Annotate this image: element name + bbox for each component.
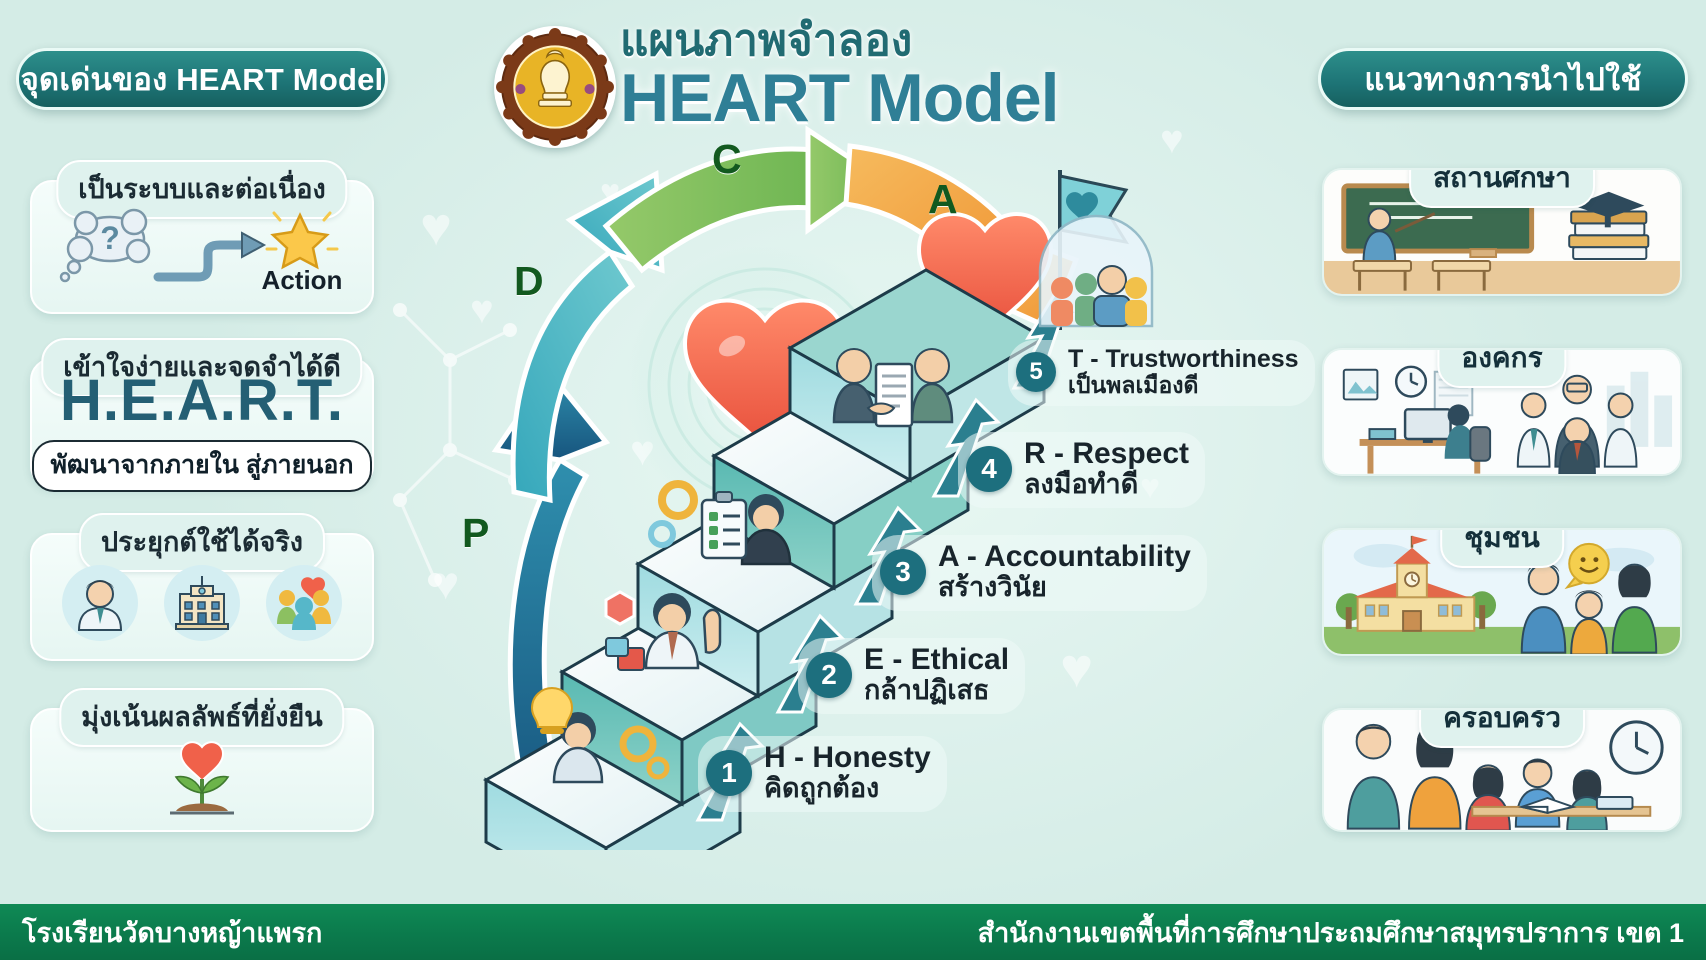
right-panel-header: แนวทางการนำไปใช้ (1318, 48, 1688, 110)
application-card-tag: องค์กร (1437, 348, 1566, 388)
application-card-school[interactable]: สถานศึกษา (1322, 168, 1682, 296)
application-card-tag: ครอบครัว (1419, 708, 1585, 748)
svg-text:?: ? (100, 220, 120, 256)
footer-bar: โรงเรียนวัดบางหญ้าแพรก สำนักงานเขตพื้นที… (0, 904, 1706, 960)
feature-card-applicable[interactable]: ประยุกต์ใช้ได้จริง (30, 533, 374, 661)
step-title-en: R - Respect (1024, 438, 1189, 470)
application-card-tag: ชุมชน (1440, 528, 1564, 568)
step-number-badge: 1 (706, 750, 752, 796)
title-main: HEART Model (620, 64, 1140, 133)
feature-card-systematic[interactable]: เป็นระบบและต่อเนื่อง ? Action (30, 180, 374, 314)
title-subtitle: แผนภาพจำลอง (620, 18, 1140, 64)
school-building-icon (164, 565, 240, 641)
application-card-tag: สถานศึกษา (1409, 168, 1595, 208)
step-label-1: 1 H - Honesty คิดถูกต้อง (698, 736, 947, 812)
feature-card-sustainable[interactable]: มุ่งเน้นผลลัพธ์ที่ยั่งยืน (30, 708, 374, 832)
application-card-community[interactable]: ชุมชน (1322, 528, 1682, 656)
heart-acronym: H.E.A.R.T. (60, 372, 344, 430)
family-heart-icon (266, 565, 342, 641)
person-avatar-icon (62, 565, 138, 641)
step-label-2: 2 E - Ethical กล้าปฏิเสธ (798, 638, 1025, 714)
pdca-letter-c: C (712, 136, 742, 183)
step-title-th: สร้างวินัย (938, 573, 1191, 602)
application-card-family[interactable]: ครอบครัว (1322, 708, 1682, 832)
heart-plant-growth-icon (142, 731, 262, 821)
action-caption: Action (262, 265, 343, 295)
step-title-th: ลงมือทำดี (1024, 470, 1189, 499)
footer-office-name: สำนักงานเขตพื้นที่การศึกษาประถมศึกษาสมุท… (978, 911, 1684, 954)
pdca-letter-a: A (928, 176, 958, 223)
step-title-th: คิดถูกต้อง (764, 774, 931, 803)
step-title-en: A - Accountability (938, 541, 1191, 573)
application-card-organization[interactable]: องค์กร (1322, 348, 1682, 476)
step-number-badge: 2 (806, 652, 852, 698)
footer-school-name: โรงเรียนวัดบางหญ้าแพรก (22, 911, 322, 954)
left-panel-header: จุดเด่นของ HEART Model (16, 48, 388, 110)
page-title: แผนภาพจำลอง HEART Model (620, 18, 1140, 134)
step-title-th: กล้าปฏิเสธ (864, 676, 1009, 705)
step-label-4: 4 R - Respect ลงมือทำดี (958, 432, 1205, 508)
heart-acronym-sub: พัฒนาจากภายใน สู่ภายนอก (32, 440, 371, 492)
step-title-en: T - Trustworthiness (1068, 346, 1299, 373)
step-label-3: 3 A - Accountability สร้างวินัย (872, 535, 1207, 611)
feature-card-memorable[interactable]: เข้าใจง่ายและจดจำได้ดี H.E.A.R.T. พัฒนาจ… (30, 358, 374, 488)
step-title-en: E - Ethical (864, 644, 1009, 676)
step-title-th: เป็นพลเมืองดี (1068, 373, 1299, 398)
step-title-en: H - Honesty (764, 742, 931, 774)
step-number-badge: 4 (966, 446, 1012, 492)
school-seal-logo (494, 26, 616, 148)
infographic-canvas: ♥ ♥ ♥ ♥ ♥ ♥ ♥ ♥ ♥ ♥ (0, 0, 1706, 960)
pdca-letter-p: P (462, 510, 489, 557)
pdca-letter-d: D (514, 258, 544, 305)
step-label-5: 5 T - Trustworthiness เป็นพลเมืองดี (1008, 340, 1315, 406)
thought-bubble-arrow-star-icon: ? Action (52, 205, 352, 301)
step-number-badge: 3 (880, 549, 926, 595)
step-number-badge: 5 (1016, 352, 1056, 392)
